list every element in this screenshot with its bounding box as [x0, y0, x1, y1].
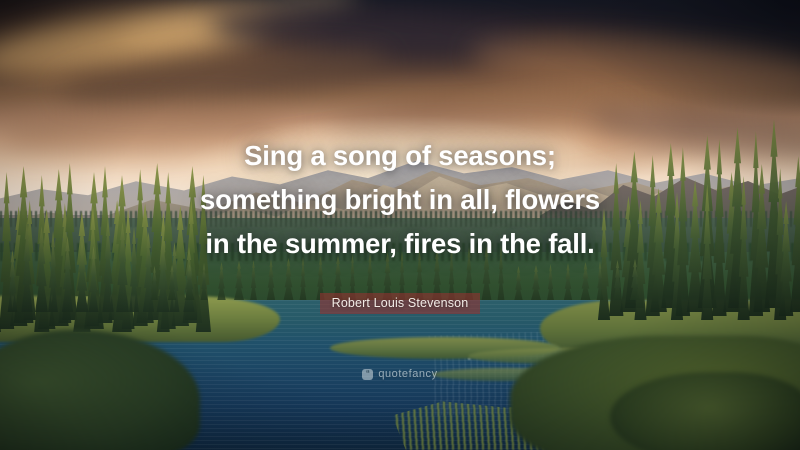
- quote-line-2: something bright in all, flowers: [40, 178, 760, 222]
- quote-line-3: in the summer, fires in the fall.: [40, 222, 760, 266]
- quote-wallpaper: Sing a song of seasons; something bright…: [0, 0, 800, 450]
- quote-mark-badge-icon: “: [362, 369, 373, 380]
- quotefancy-watermark: “ quotefancy: [0, 368, 800, 380]
- quote-line-1: Sing a song of seasons;: [40, 134, 760, 178]
- author-attribution: Robert Louis Stevenson: [0, 293, 800, 314]
- quote-text: Sing a song of seasons; something bright…: [0, 134, 800, 266]
- watermark-brand-label: quotefancy: [378, 368, 437, 380]
- author-name: Robert Louis Stevenson: [320, 293, 481, 314]
